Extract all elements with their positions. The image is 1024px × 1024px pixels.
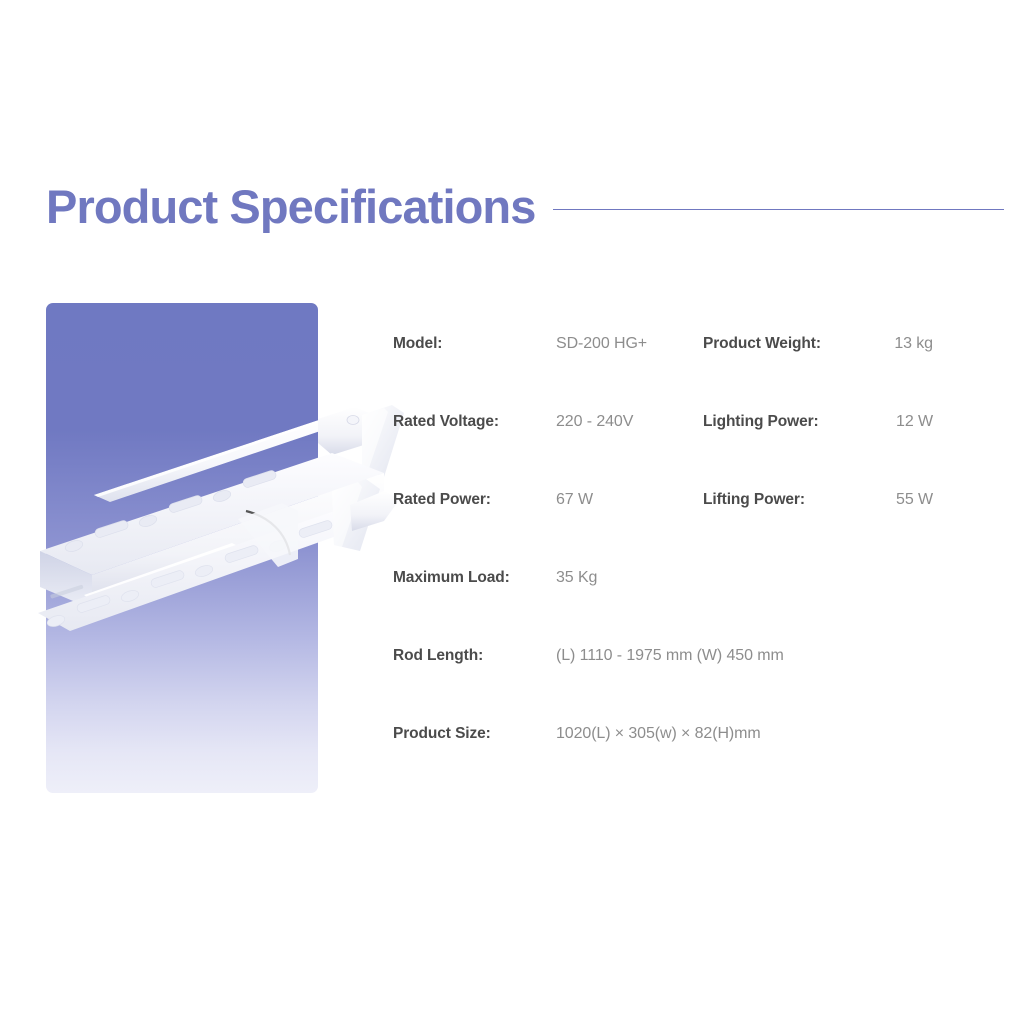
spec-label-product-weight: Product Weight: (703, 332, 821, 356)
title-divider-rule (553, 209, 1004, 210)
spec-label-model: Model: (393, 332, 442, 356)
spec-value-rod-length: (L) 1110 - 1975 mm (W) 450 mm (556, 644, 784, 668)
spec-label-maximum-load: Maximum Load: (393, 566, 510, 590)
spec-value-product-weight: 13 kg (853, 332, 933, 356)
spec-value-rated-power: 67 W (556, 488, 593, 512)
product-image-card (46, 303, 318, 793)
spec-row: Rated Power: 67 W Lifting Power: 55 W (393, 488, 953, 566)
spec-row: Product Size: 1020(L) × 305(w) × 82(H)mm (393, 722, 953, 800)
spec-label-lifting-power: Lifting Power: (703, 488, 805, 512)
spec-row: Maximum Load: 35 Kg (393, 566, 953, 644)
spec-row: Rod Length: (L) 1110 - 1975 mm (W) 450 m… (393, 644, 953, 722)
product-figure (46, 303, 318, 793)
specifications-table: Model: SD-200 HG+ Product Weight: 13 kg … (393, 332, 953, 800)
spec-label-rated-power: Rated Power: (393, 488, 491, 512)
product-specifications-page: Product Specifications (0, 0, 1024, 1024)
page-title: Product Specifications (46, 183, 535, 230)
spec-value-lifting-power: 55 W (853, 488, 933, 512)
spec-value-rated-voltage: 220 - 240V (556, 410, 633, 434)
spec-label-lighting-power: Lighting Power: (703, 410, 819, 434)
spec-value-model: SD-200 HG+ (556, 332, 647, 356)
page-header: Product Specifications (46, 174, 1004, 238)
spec-row: Rated Voltage: 220 - 240V Lighting Power… (393, 410, 953, 488)
spec-value-product-size: 1020(L) × 305(w) × 82(H)mm (556, 722, 761, 746)
spec-label-product-size: Product Size: (393, 722, 491, 746)
spec-value-maximum-load: 35 Kg (556, 566, 597, 590)
spec-value-lighting-power: 12 W (853, 410, 933, 434)
spec-row: Model: SD-200 HG+ Product Weight: 13 kg (393, 332, 953, 410)
spec-label-rated-voltage: Rated Voltage: (393, 410, 499, 434)
spec-label-rod-length: Rod Length: (393, 644, 483, 668)
